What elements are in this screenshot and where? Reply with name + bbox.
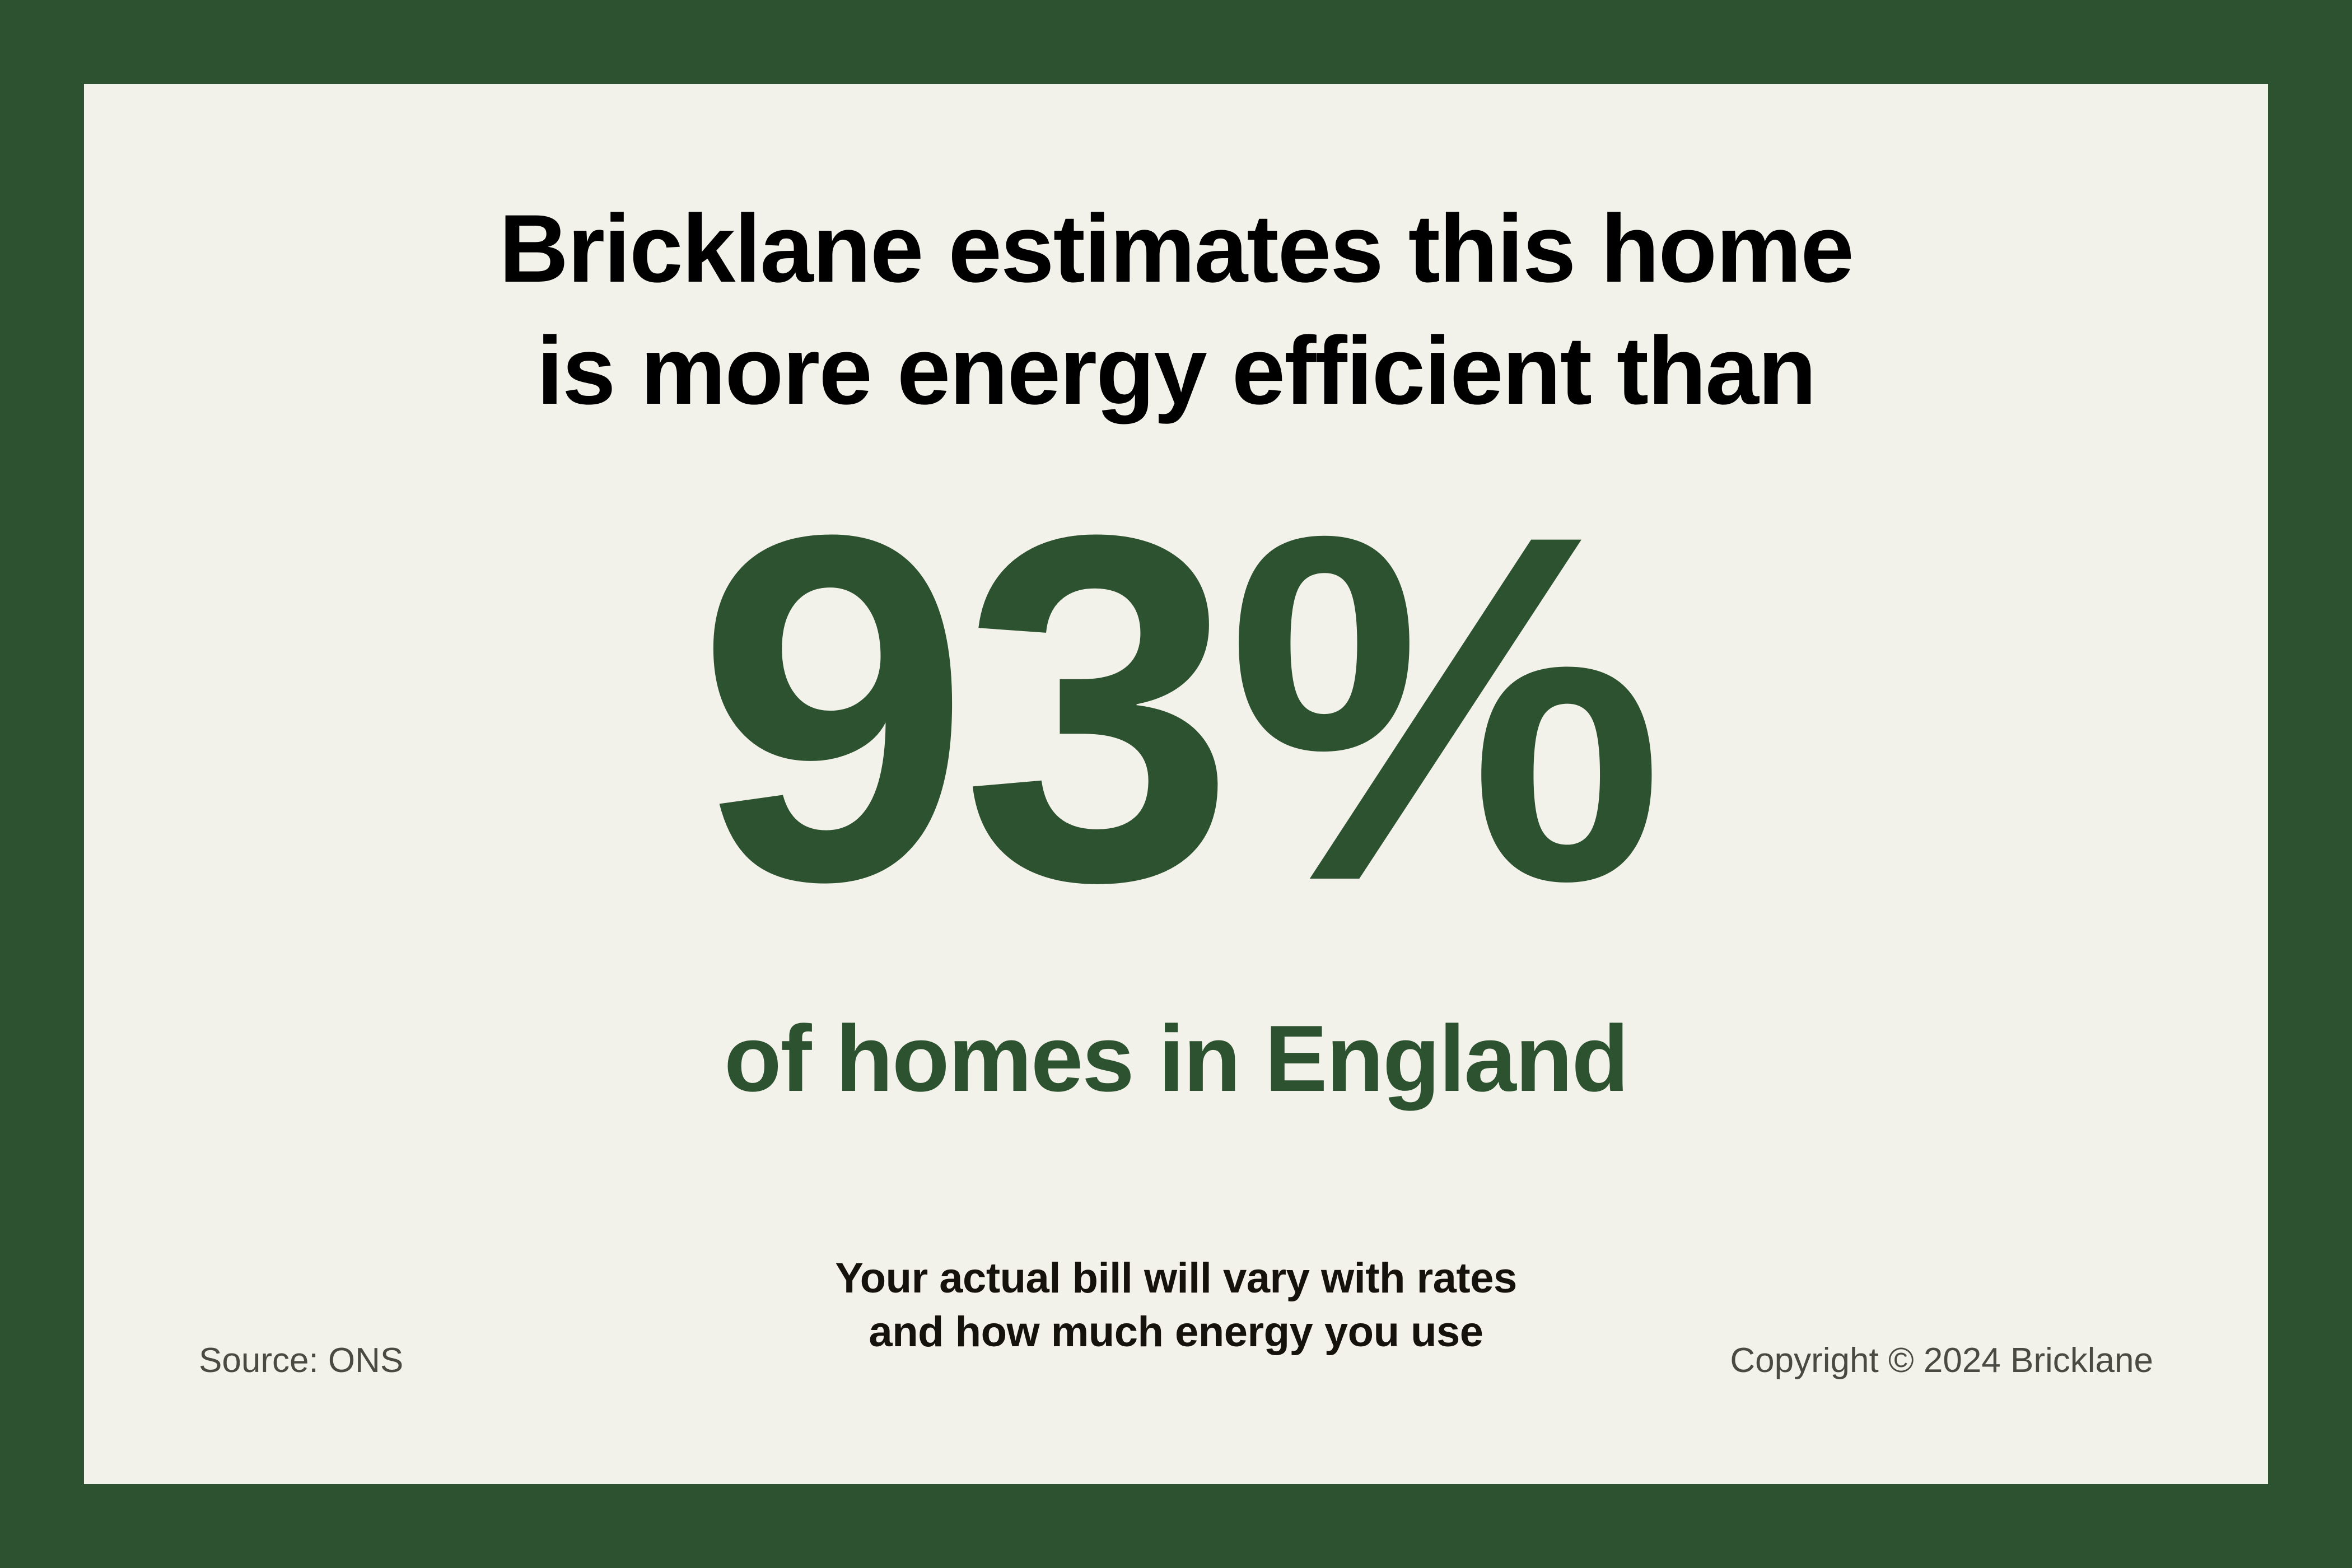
headline-line-2: is more energy efficient than <box>84 310 2268 432</box>
infographic-card: Bricklane estimates this home is more en… <box>0 0 2352 1568</box>
statistic-block: 93% <box>84 501 2268 916</box>
headline: Bricklane estimates this home is more en… <box>84 188 2268 432</box>
inner-content-panel: Bricklane estimates this home is more en… <box>84 84 2268 1484</box>
footer: Source: ONS Copyright © 2024 Bricklane <box>84 1338 2268 1406</box>
disclaimer-line-1: Your actual bill will vary with rates <box>84 1252 2268 1305</box>
statistic-caption: of homes in England <box>84 1002 2268 1114</box>
statistic-value: 93% <box>696 501 1655 916</box>
copyright-notice: Copyright © 2024 Bricklane <box>1730 1338 2153 1383</box>
source-credit: Source: ONS <box>199 1338 403 1383</box>
headline-line-1: Bricklane estimates this home <box>84 188 2268 310</box>
